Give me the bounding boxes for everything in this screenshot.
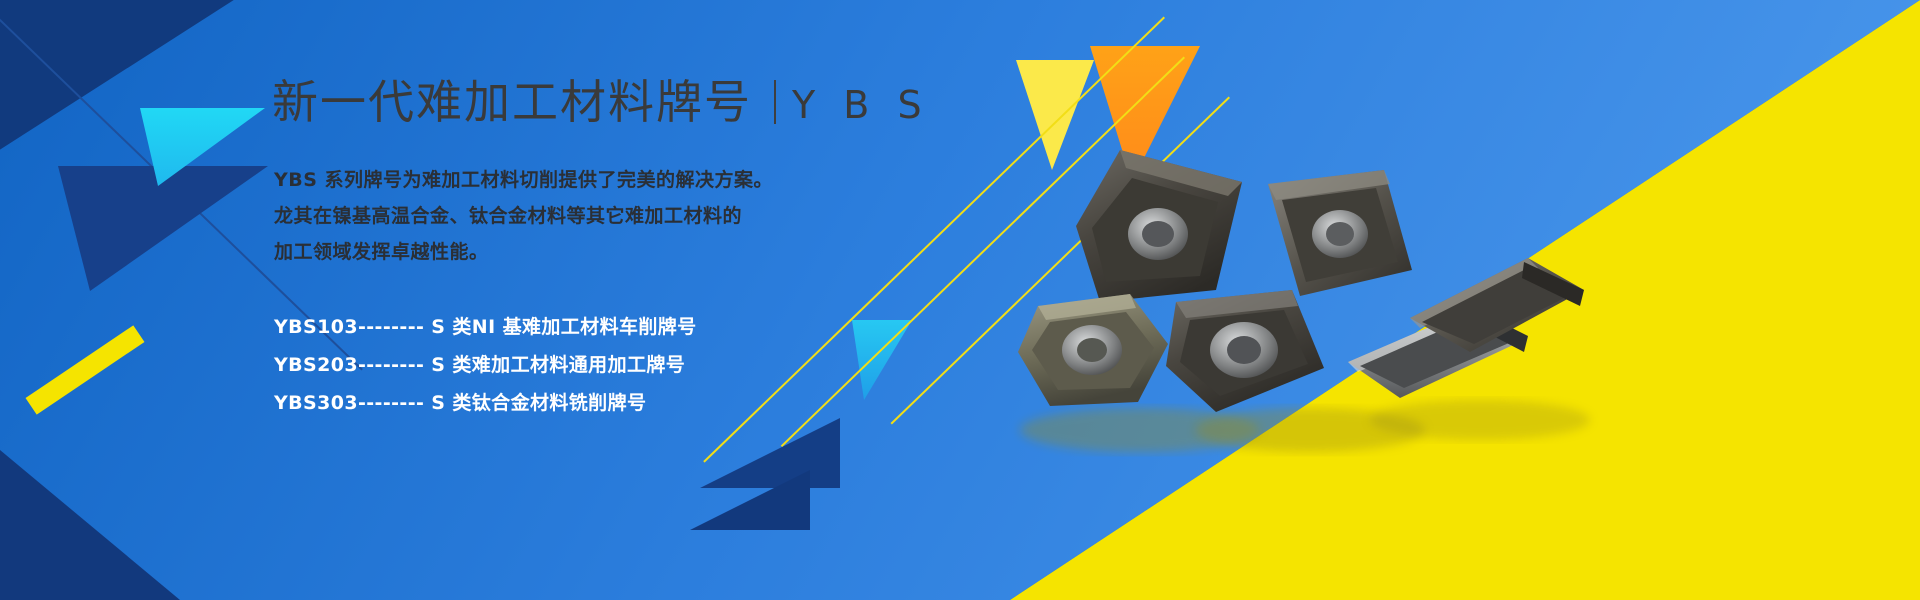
description-block: YBS 系列牌号为难加工材料切削提供了完美的解决方案。 龙其在镍基高温合金、钛合… [274, 162, 773, 270]
description-line-2: 龙其在镍基高温合金、钛合金材料等其它难加工材料的 [274, 198, 773, 234]
round-pentagon-insert [1018, 294, 1168, 406]
grade-list: YBS103-------- S 类NI 基难加工材料车削牌号 YBS203--… [274, 308, 697, 422]
wnmg-trigon-insert [1076, 150, 1242, 302]
banner-content: 新一代难加工材料牌号 Y B S YBS 系列牌号为难加工材料切削提供了完美的解… [272, 0, 992, 600]
headline-chinese: 新一代难加工材料牌号 [272, 66, 752, 132]
grade-item-ybs103: YBS103-------- S 类NI 基难加工材料车削牌号 [274, 308, 697, 346]
page-title: 新一代难加工材料牌号 Y B S [272, 66, 930, 132]
cutting-inserts-illustration [980, 130, 1600, 480]
cnmg-rhombic-insert [1268, 170, 1412, 296]
headline-divider-icon [774, 80, 776, 124]
product-insert-group [980, 130, 1600, 480]
description-line-3: 加工领域发挥卓越性能。 [274, 234, 773, 270]
grade-item-ybs203: YBS203-------- S 类难加工材料通用加工牌号 [274, 346, 697, 384]
square-milling-insert [1166, 290, 1324, 412]
headline-english: Y B S [792, 83, 930, 127]
grade-item-ybs303: YBS303-------- S 类钛合金材料铣削牌号 [274, 384, 697, 422]
description-line-1: YBS 系列牌号为难加工材料切削提供了完美的解决方案。 [274, 162, 773, 198]
promo-banner: 新一代难加工材料牌号 Y B S YBS 系列牌号为难加工材料切削提供了完美的解… [0, 0, 1920, 600]
